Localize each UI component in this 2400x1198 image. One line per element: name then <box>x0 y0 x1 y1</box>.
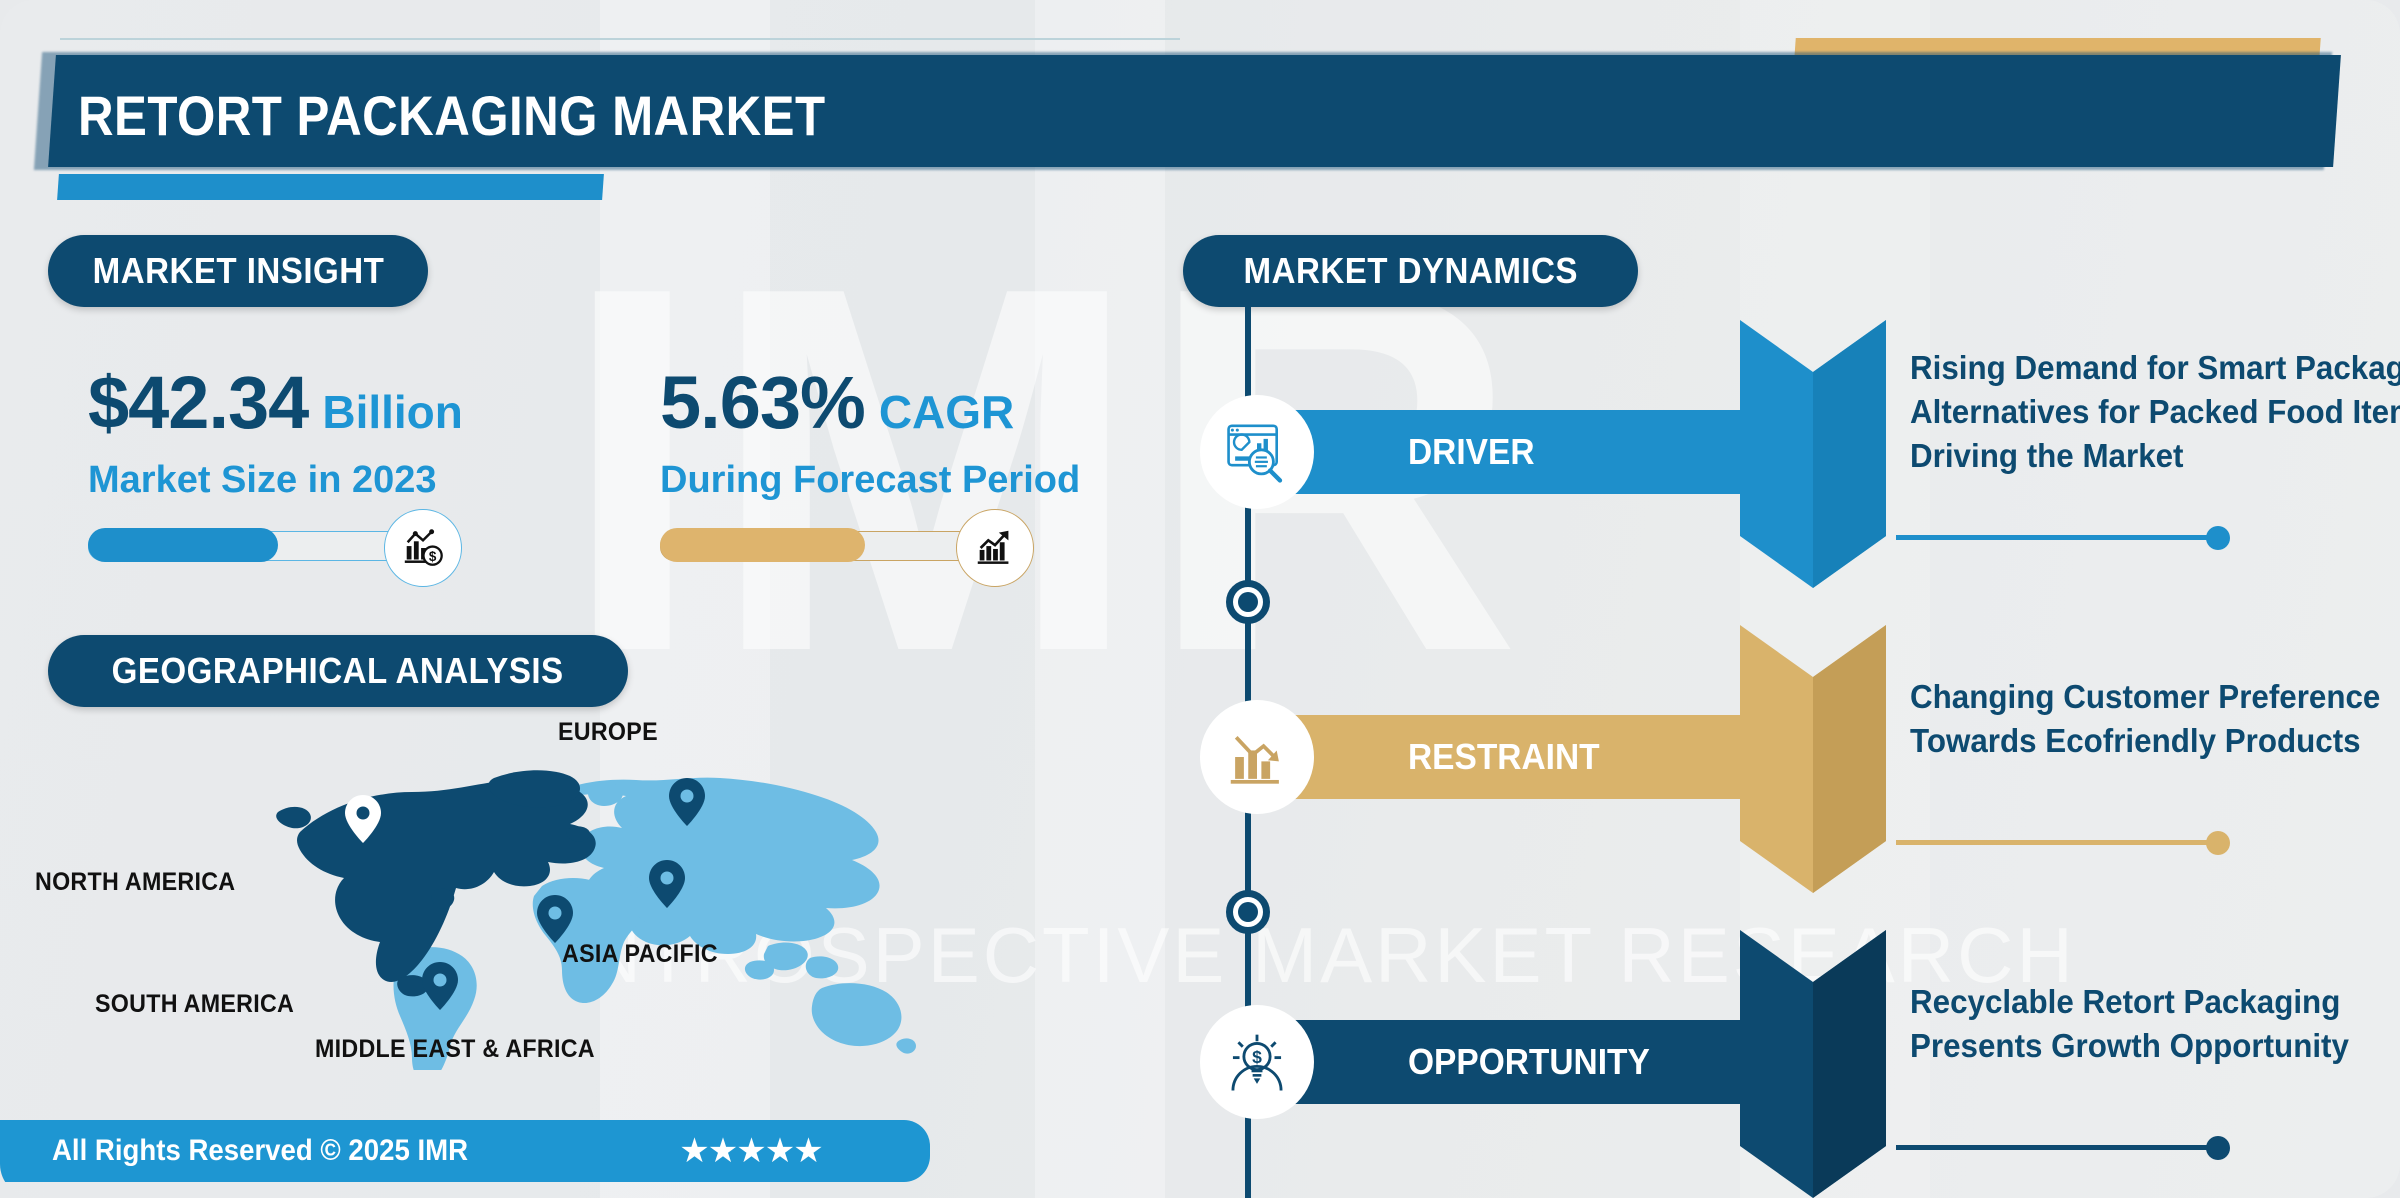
map-label-south-america: SOUTH AMERICA <box>95 990 294 1019</box>
progress-bar-cagr <box>660 528 1030 562</box>
svg-text:$: $ <box>429 549 437 564</box>
dynamics-rule <box>1896 535 2216 540</box>
map-label-north-america: NORTH AMERICA <box>35 868 235 897</box>
world-map-svg <box>150 740 1030 1070</box>
infographic-canvas: IMR INTROSPECTIVE MARKET RESEARCH RETORT… <box>0 0 2400 1198</box>
stat-value: $42.34 <box>88 360 308 445</box>
star-rating: ★★★★★ <box>679 1131 821 1171</box>
section-heading-market-dynamics: MARKET DYNAMICS <box>1183 235 1638 307</box>
dynamics-end-dot <box>2206 1136 2230 1160</box>
section-heading-geographical-analysis: GEOGRAPHICAL ANALYSIS <box>48 635 628 707</box>
copyright-text: All Rights Reserved © 2025 IMR <box>52 1134 468 1168</box>
stat-caption: During Forecast Period <box>660 459 1080 502</box>
dynamics-label: DRIVER <box>1408 431 1535 473</box>
geographical-analysis-label: GEOGRAPHICAL ANALYSIS <box>112 650 564 692</box>
declining-bar-chart-icon <box>1200 700 1314 814</box>
footer-bar: All Rights Reserved © 2025 IMR ★★★★★ <box>0 1120 930 1182</box>
market-insight-label: MARKET INSIGHT <box>92 250 384 292</box>
bar-chart-dollar-icon: $ <box>384 509 462 587</box>
dynamics-end-dot <box>2206 831 2230 855</box>
stat-card-cagr: 5.63% CAGR During Forecast Period <box>660 360 1080 562</box>
lightbulb-dollar-icon: $ <box>1200 1005 1314 1119</box>
map-label-europe: EUROPE <box>558 718 658 747</box>
market-dynamics-label: MARKET DYNAMICS <box>1243 250 1577 292</box>
dynamics-description: Recyclable Retort Packaging Presents Gro… <box>1910 980 2400 1068</box>
stat-unit: CAGR <box>879 385 1014 439</box>
stat-card-market-size: $42.34 Billion Market Size in 2023 $ <box>88 360 463 562</box>
stat-caption: Market Size in 2023 <box>88 459 463 502</box>
progress-fill <box>88 528 278 562</box>
timeline-node <box>1226 890 1270 934</box>
stat-unit: Billion <box>322 385 463 439</box>
dynamics-end-dot <box>2206 526 2230 550</box>
dynamics-label: RESTRAINT <box>1408 736 1600 778</box>
progress-bar-market-size: $ <box>88 528 458 562</box>
dynamics-bar-restraint: RESTRAINT <box>1268 715 1788 799</box>
stat-value: 5.63% <box>660 360 865 445</box>
progress-fill <box>660 528 865 562</box>
dynamics-description: Rising Demand for Smart Packaging Altern… <box>1910 346 2400 478</box>
section-heading-market-insight: MARKET INSIGHT <box>48 235 428 307</box>
svg-text:$: $ <box>1252 1047 1262 1067</box>
page-title: RETORT PACKAGING MARKET <box>78 72 1486 158</box>
world-map: NORTH AMERICA EUROPE ASIA PACIFIC SOUTH … <box>150 740 1030 1070</box>
dynamics-description: Changing Customer Preference Towards Eco… <box>1910 675 2400 763</box>
dynamics-rule <box>1896 1145 2216 1150</box>
dynamics-bar-opportunity: OPPORTUNITY <box>1268 1020 1788 1104</box>
timeline-node <box>1226 580 1270 624</box>
dashboard-analytics-search-icon <box>1200 395 1314 509</box>
growth-arrow-icon <box>956 509 1034 587</box>
dynamics-label: OPPORTUNITY <box>1408 1041 1650 1083</box>
header-hairline <box>60 38 1180 40</box>
header-underline-accent <box>57 174 604 200</box>
map-label-asia-pacific: ASIA PACIFIC <box>562 940 718 969</box>
dynamics-bar-driver: DRIVER <box>1268 410 1788 494</box>
map-label-middle-east-africa: MIDDLE EAST & AFRICA <box>315 1035 595 1064</box>
dynamics-rule <box>1896 840 2216 845</box>
